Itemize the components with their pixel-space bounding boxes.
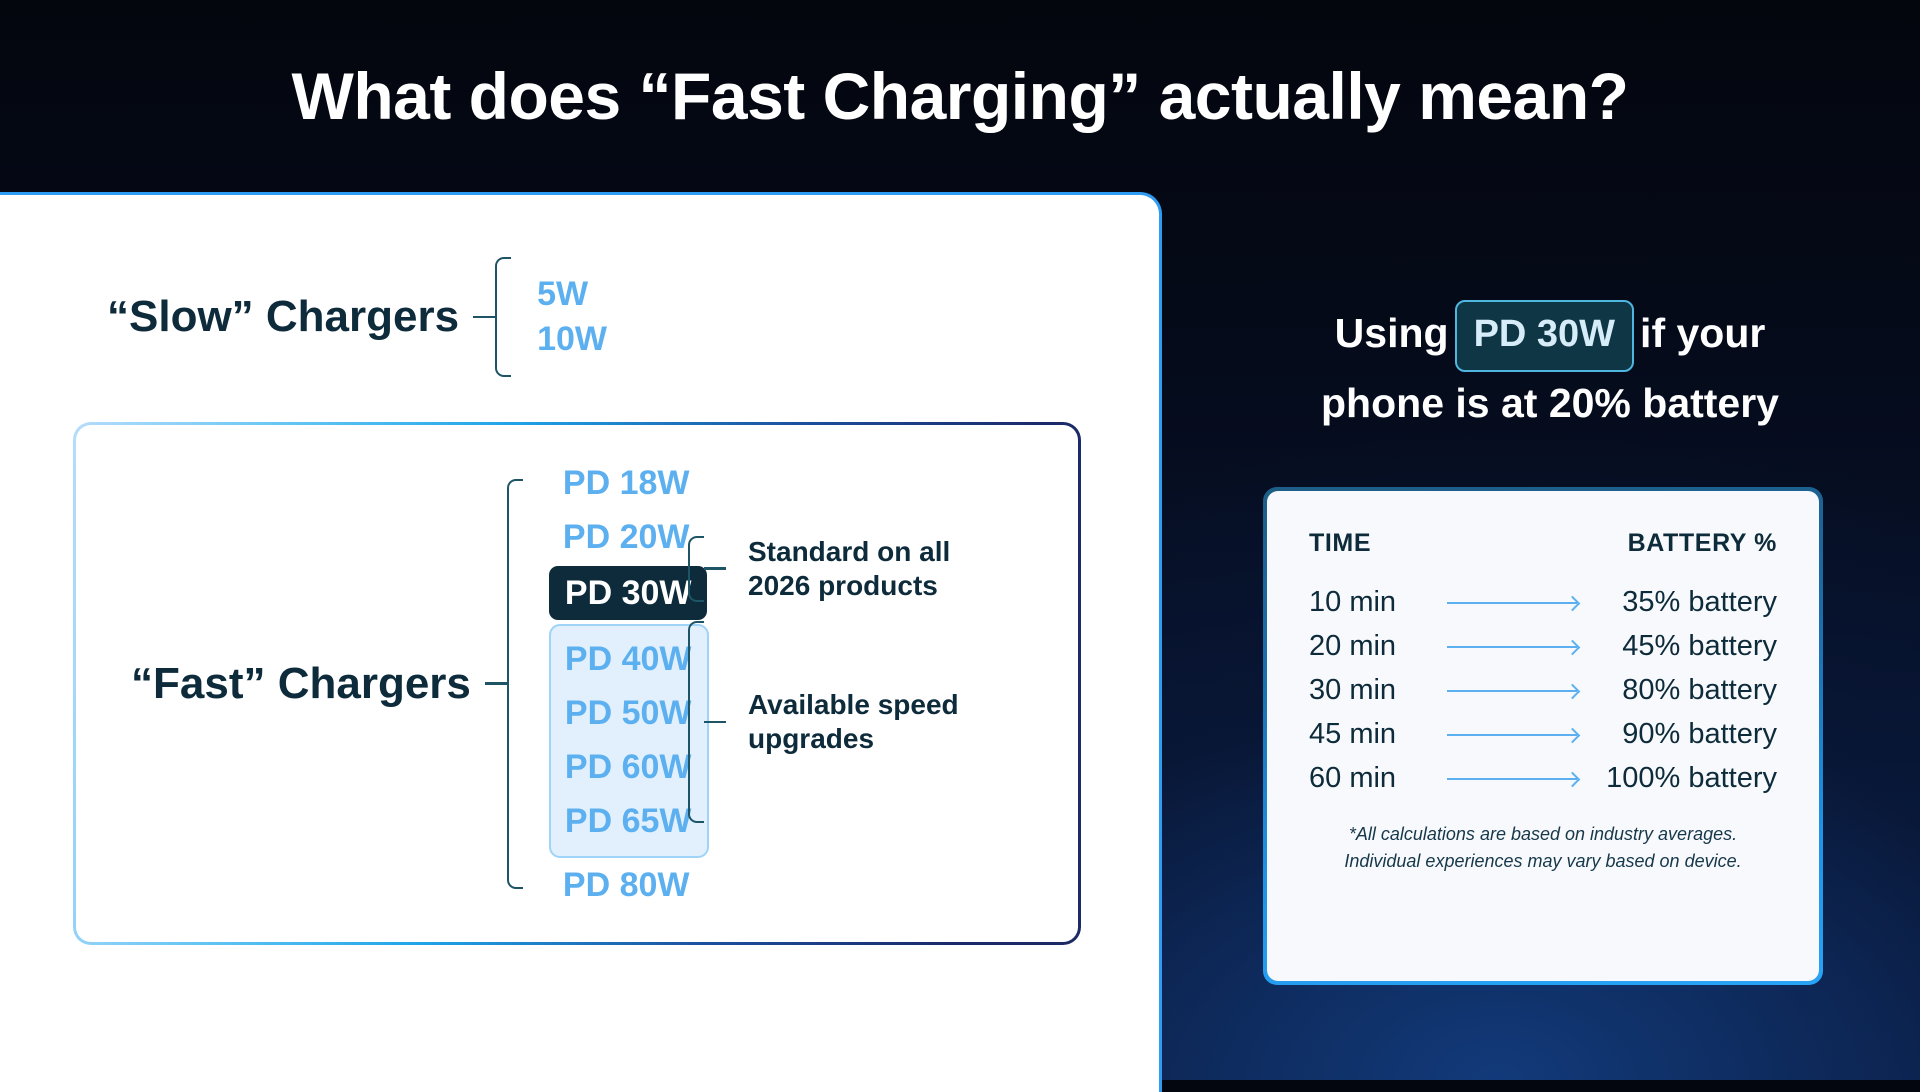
watt-item-20w: PD 20W xyxy=(549,510,710,564)
slow-chargers-label: “Slow” Chargers xyxy=(107,292,459,342)
heading-before-text: Using xyxy=(1335,310,1449,356)
battery-table-card: TIME BATTERY % 10 min 35% battery 20 min… xyxy=(1263,487,1823,985)
watt-item: 5W xyxy=(537,272,607,317)
fast-watt-list: PD 18W PD 20W PD 30W PD 40W PD 50W PD 60… xyxy=(549,456,710,912)
slow-chargers-group: “Slow” Chargers 5W 10W xyxy=(107,257,607,377)
curly-brace-icon xyxy=(495,257,511,377)
arrow-right-icon xyxy=(1447,690,1577,692)
slow-brace xyxy=(473,257,511,377)
cell-battery: 80% battery xyxy=(1591,674,1777,707)
watt-badge-30w: PD 30W xyxy=(549,566,708,620)
annotation-standard-text: Standard on all 2026 products xyxy=(748,535,950,602)
watt-item-60w: PD 60W xyxy=(551,740,708,794)
column-header-battery: BATTERY % xyxy=(1628,529,1777,558)
cell-time: 60 min xyxy=(1309,762,1433,795)
page-title: What does “Fast Charging” actually mean? xyxy=(292,58,1629,134)
arrow-right-icon xyxy=(1447,778,1577,780)
fast-chargers-box-inner: “Fast” Chargers PD 18W PD 20W PD 30W PD … xyxy=(76,425,1078,942)
curly-brace-icon xyxy=(688,621,704,823)
cell-time: 30 min xyxy=(1309,674,1433,707)
cell-battery: 35% battery xyxy=(1591,586,1777,619)
chargers-panel: “Slow” Chargers 5W 10W “Fast” Chargers xyxy=(0,192,1162,1092)
brace-stem-icon xyxy=(485,682,507,685)
annotation-upgrades: Available speed upgrades xyxy=(688,621,959,823)
cell-battery: 100% battery xyxy=(1591,762,1777,795)
table-footnote: *All calculations are based on industry … xyxy=(1309,821,1777,875)
watt-item-65w: PD 65W xyxy=(551,794,708,848)
upgrade-watts-box: PD 40W PD 50W PD 60W PD 65W xyxy=(549,624,710,858)
heading-after-text: if your xyxy=(1640,310,1765,356)
cell-battery: 45% battery xyxy=(1591,630,1777,663)
curly-brace-icon xyxy=(688,536,704,602)
watt-item-80w: PD 80W xyxy=(549,858,710,912)
table-row: 60 min 100% battery xyxy=(1309,762,1777,795)
fast-chargers-label: “Fast” Chargers xyxy=(131,659,471,709)
heading-line-2: phone is at 20% battery xyxy=(1230,372,1870,436)
right-heading: UsingPD 30Wif your phone is at 20% batte… xyxy=(1230,300,1870,435)
title-bar: What does “Fast Charging” actually mean? xyxy=(0,0,1920,192)
watt-item-50w: PD 50W xyxy=(551,686,708,740)
infographic-canvas: What does “Fast Charging” actually mean?… xyxy=(0,0,1920,1080)
brace-stem-icon xyxy=(704,567,726,570)
cell-time: 45 min xyxy=(1309,718,1433,751)
annotation-standard: Standard on all 2026 products xyxy=(688,535,950,602)
arrow-right-icon xyxy=(1447,646,1577,648)
table-row: 30 min 80% battery xyxy=(1309,674,1777,707)
table-header-row: TIME BATTERY % xyxy=(1309,529,1777,558)
watt-item: 10W xyxy=(537,317,607,362)
slow-watt-list: 5W 10W xyxy=(537,272,607,362)
arrow-right-icon xyxy=(1447,602,1577,604)
cell-time: 20 min xyxy=(1309,630,1433,663)
watt-item-40w: PD 40W xyxy=(551,632,708,686)
watt-item-18w: PD 18W xyxy=(549,456,710,510)
pd-30w-pill: PD 30W xyxy=(1455,300,1634,372)
fast-chargers-box: “Fast” Chargers PD 18W PD 20W PD 30W PD … xyxy=(73,422,1081,945)
fast-chargers-group: “Fast” Chargers PD 18W PD 20W PD 30W PD … xyxy=(131,425,709,942)
brace-stem-icon xyxy=(473,316,495,319)
cell-battery: 90% battery xyxy=(1591,718,1777,751)
cell-time: 10 min xyxy=(1309,586,1433,619)
table-row: 10 min 35% battery xyxy=(1309,586,1777,619)
brace-stem-icon xyxy=(704,721,726,724)
column-header-time: TIME xyxy=(1309,529,1371,558)
table-row: 20 min 45% battery xyxy=(1309,630,1777,663)
arrow-right-icon xyxy=(1447,734,1577,736)
annotation-upgrades-text: Available speed upgrades xyxy=(748,688,959,755)
curly-brace-icon xyxy=(507,479,523,889)
table-row: 45 min 90% battery xyxy=(1309,718,1777,751)
fast-brace xyxy=(485,479,523,889)
battery-table-card-inner: TIME BATTERY % 10 min 35% battery 20 min… xyxy=(1267,491,1819,981)
